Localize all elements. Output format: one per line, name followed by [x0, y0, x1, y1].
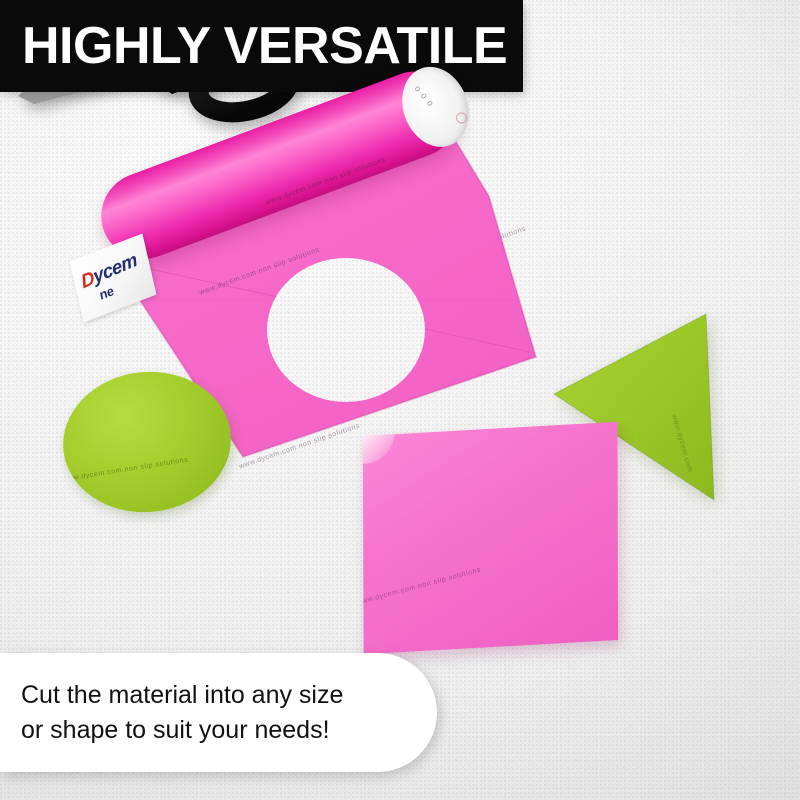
banner-title: HIGHLY VERSATILE	[0, 20, 507, 72]
core-dot-marks: o o o	[413, 83, 437, 109]
printed-website-text-circle: www.dycem.com non slip solutions	[62, 456, 189, 483]
pink-square-cutout: www.dycem.com non slip solutions	[363, 422, 618, 655]
brand-name: ycem	[91, 250, 139, 289]
brand-subtext: ne	[98, 283, 115, 303]
product-marketing-image: www.dycem.com non slip solutions www.dyc…	[0, 0, 800, 800]
caption-box: Cut the material into any size or shape …	[0, 653, 437, 772]
printed-website-text-square: www.dycem.com non slip solutions	[363, 566, 482, 606]
caption-line-2: or shape to suit your needs!	[0, 713, 437, 748]
square-curled-corner	[363, 432, 395, 464]
caption-line-1: Cut the material into any size	[0, 678, 437, 713]
core-ring-mark	[454, 111, 468, 125]
